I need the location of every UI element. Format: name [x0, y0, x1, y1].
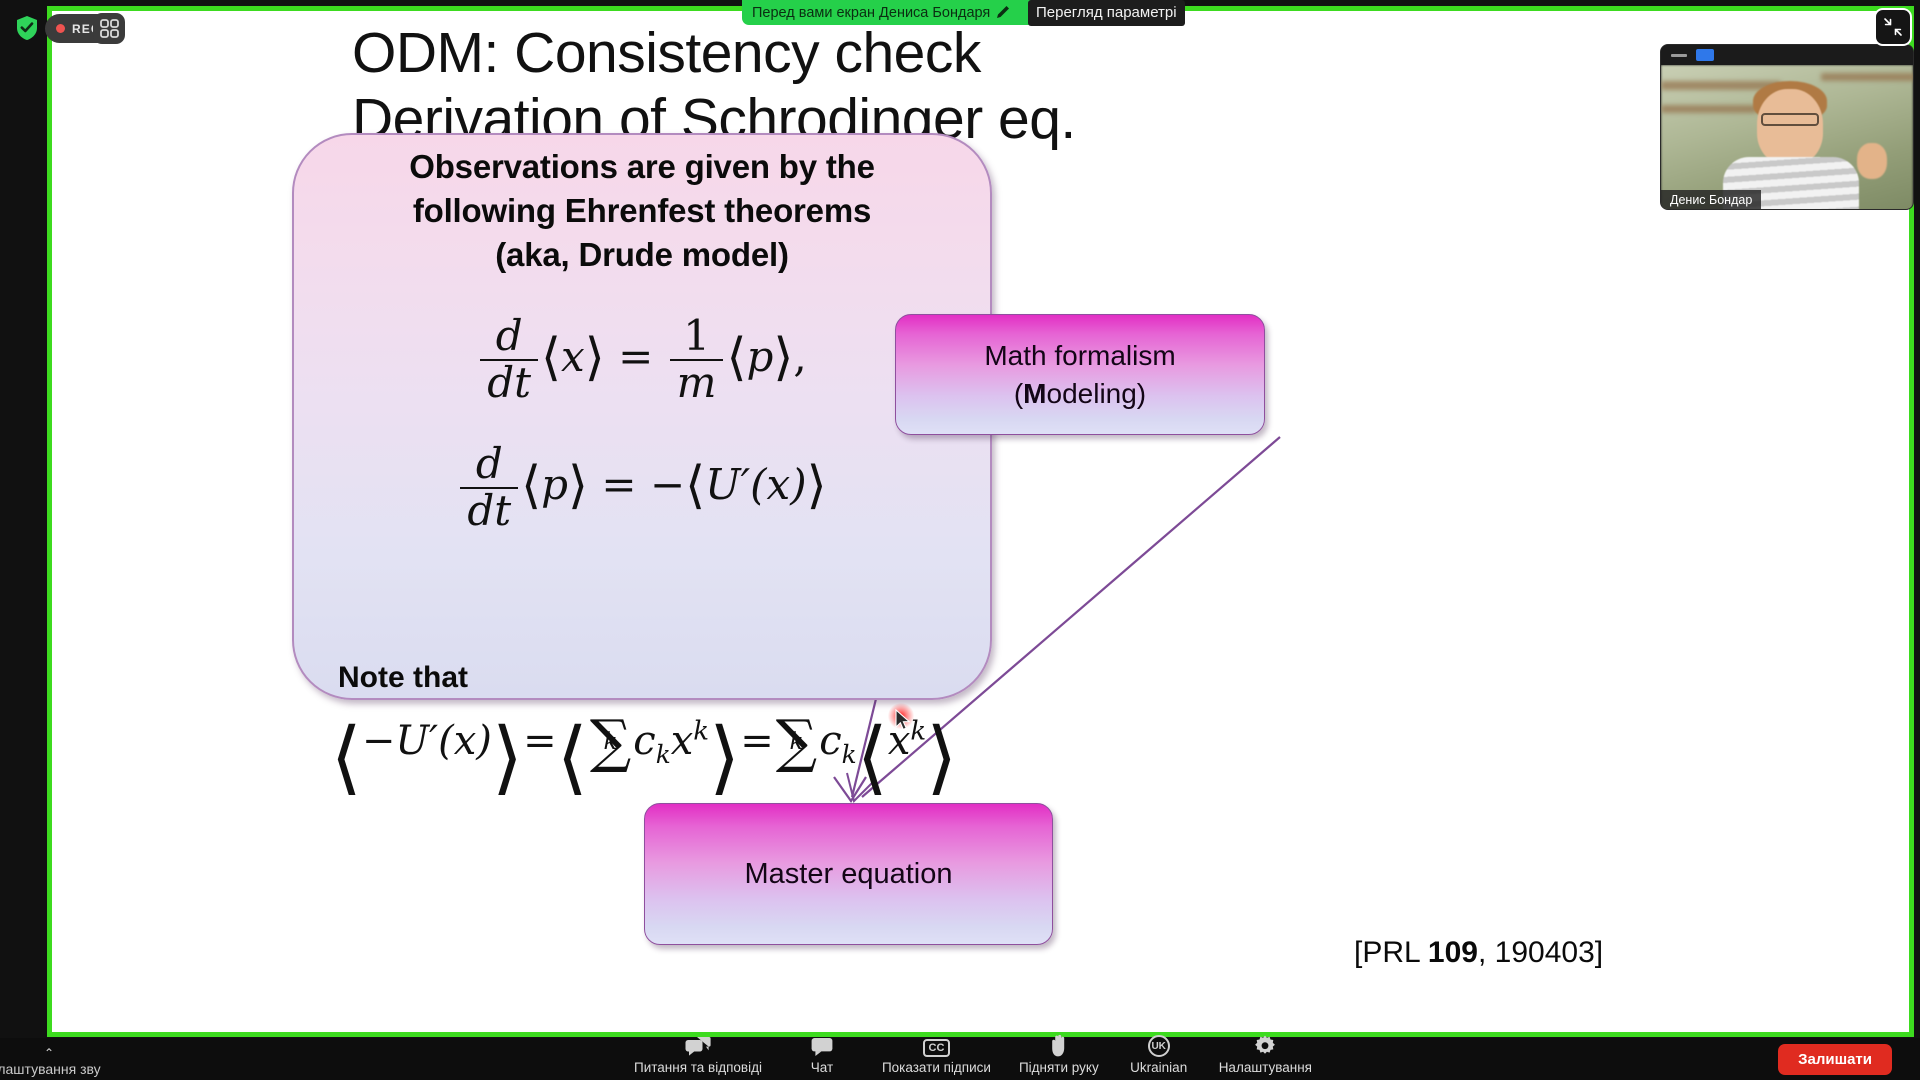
selfview-window-controls — [1661, 45, 1913, 65]
prl-citation: [PRL 109, 190403] — [1354, 936, 1603, 970]
eq1-numerator: d — [480, 315, 538, 361]
eq1-one: 1 — [670, 315, 724, 361]
eq2-denominator: dt — [460, 489, 518, 533]
zoom-meeting-window: ODM: Consistency check Derivation of Sch… — [0, 0, 1920, 1080]
uk-badge: UK — [1148, 1035, 1170, 1057]
eq2-prime: ′ — [741, 460, 751, 509]
eq1-equals: = — [618, 332, 653, 381]
eq1-m: m — [670, 361, 724, 405]
screen-share-banner[interactable]: Перед вами екран Дениса Бондаря REC — [742, 0, 1063, 25]
closed-captions-icon: CC — [923, 1034, 951, 1057]
master-equation-label: Master equation — [745, 858, 953, 891]
toolbar-item-settings[interactable]: Налаштування — [1205, 1034, 1326, 1079]
eq2-equals: = — [601, 460, 636, 509]
tooltip-view-options: Перегляд параметрі — [1028, 0, 1185, 26]
chevron-up-icon[interactable]: ⌃ — [0, 1047, 144, 1059]
equation-expansion: ⟨−U′(x)⟩=⟨∑kckxk⟩=∑kck⟨xk⟩ — [306, 707, 982, 803]
callout-line-1: Observations are given by the — [294, 145, 990, 189]
toolbar-items: Питання та відповіді Чат CC Показати під… — [620, 1034, 1326, 1079]
gear-icon — [1254, 1034, 1276, 1057]
shelf-decor — [1661, 105, 1757, 113]
eq3-x-pow-1: k — [693, 717, 709, 747]
presentation-slide: ODM: Consistency check Derivation of Sch… — [52, 11, 1909, 1032]
selfview-video-feed: Денис Бондар — [1661, 65, 1913, 210]
audio-settings-label: лаштування зву — [0, 1061, 101, 1077]
exit-fullscreen-icon[interactable] — [1874, 8, 1912, 46]
toolbar-item-chat[interactable]: Чат — [776, 1034, 868, 1079]
eq3-sum-index-2: k — [789, 728, 803, 755]
note-that-label: Note that — [338, 661, 468, 695]
shared-screen-frame: ODM: Consistency check Derivation of Sch… — [47, 6, 1914, 1037]
math-formalism-line-2: (Modeling) — [984, 375, 1175, 412]
eq2-minus: − — [650, 460, 685, 509]
citation-volume: 109 — [1428, 936, 1478, 969]
slide-title-line-1: ODM: Consistency check — [352, 21, 1452, 87]
audio-settings-control[interactable]: ⌃ лаштування зву — [0, 1047, 144, 1077]
eq2-U: U — [705, 460, 740, 509]
eq3-c-sub-2: k — [842, 740, 857, 769]
flow-box-master-equation: Master equation — [644, 803, 1053, 945]
math-formalism-line-1: Math formalism — [984, 337, 1175, 374]
mouse-cursor-icon — [895, 709, 913, 733]
eq3-c-sub-1: k — [656, 740, 671, 769]
toolbar-label-chat: Чат — [811, 1060, 833, 1075]
selfview-video-thumbnail[interactable]: Денис Бондар — [1660, 44, 1914, 210]
eq3-sum-index-1: k — [604, 728, 618, 755]
eq3-x-1: x — [671, 718, 694, 764]
eq1-x: x — [561, 332, 585, 381]
flow-box-math-formalism: Math formalism (Modeling) — [895, 314, 1265, 435]
toolbar-label-settings: Налаштування — [1219, 1060, 1312, 1075]
eq2-p: p — [541, 460, 568, 509]
annotate-pencil-icon[interactable] — [996, 5, 1010, 20]
qa-bubbles-icon — [685, 1034, 711, 1057]
eq3-arg: (x) — [438, 718, 492, 764]
modeling-bold-m: M — [1023, 378, 1046, 409]
toolbar-item-language[interactable]: UK Ukrainian — [1113, 1034, 1205, 1079]
grid-view-icon[interactable] — [93, 13, 125, 44]
equation-ehrenfest-position: ddt⟨x⟩ = 1m⟨p⟩, — [294, 315, 990, 405]
leave-meeting-button[interactable]: Залишати — [1778, 1044, 1892, 1075]
person-head — [1757, 89, 1823, 165]
glasses — [1761, 113, 1819, 126]
toolbar-label-qa: Питання та відповіді — [634, 1060, 762, 1075]
ehrenfest-callout-box: Observations are given by the following … — [292, 133, 992, 700]
share-banner-text: Перед вами екран Дениса Бондаря — [752, 5, 990, 21]
person-hand — [1857, 143, 1887, 179]
eq1-denominator: dt — [480, 361, 538, 405]
raise-hand-icon — [1049, 1034, 1069, 1057]
minimize-icon[interactable] — [1671, 54, 1687, 57]
callout-line-2: following Ehrenfest theorems — [294, 189, 990, 233]
toolbar-label-captions: Показати підписи — [882, 1060, 991, 1075]
eq1-comma: , — [793, 332, 806, 381]
eq3-c-2: c — [819, 718, 841, 764]
eq3-minus: − — [362, 718, 396, 764]
maximize-icon[interactable] — [1696, 49, 1714, 61]
toolbar-item-qa[interactable]: Питання та відповіді — [620, 1034, 776, 1079]
eq2-arg: (x) — [750, 460, 806, 509]
eq3-prime: ′ — [429, 718, 438, 764]
equation-ehrenfest-momentum: ddt⟨p⟩ = −⟨U′(x)⟩ — [294, 443, 990, 533]
shield-check-icon[interactable] — [14, 15, 40, 41]
eq3-c-1: c — [633, 718, 655, 764]
shelf-decor — [1821, 73, 1913, 81]
toolbar-item-captions[interactable]: CC Показати підписи — [868, 1034, 1005, 1079]
eq3-equals-1: = — [523, 718, 557, 764]
eq1-p: p — [746, 332, 773, 381]
callout-line-3: (aka, Drude model) — [294, 233, 990, 277]
selfview-participant-name: Денис Бондар — [1661, 190, 1761, 210]
eq2-numerator: d — [460, 443, 518, 489]
cc-badge: CC — [923, 1039, 951, 1057]
toolbar-label-raise-hand: Підняти руку — [1019, 1060, 1099, 1075]
toolbar-item-raise-hand[interactable]: Підняти руку — [1005, 1034, 1113, 1079]
toolbar-label-language: Ukrainian — [1130, 1060, 1187, 1075]
eq3-U: U — [395, 718, 429, 764]
record-dot-icon — [56, 24, 65, 33]
chat-bubble-icon — [811, 1034, 833, 1057]
language-uk-icon: UK — [1148, 1034, 1170, 1057]
meeting-toolbar: ⌃ лаштування зву Питання та відповіді — [0, 1038, 1920, 1080]
eq3-equals-2: = — [740, 718, 774, 764]
